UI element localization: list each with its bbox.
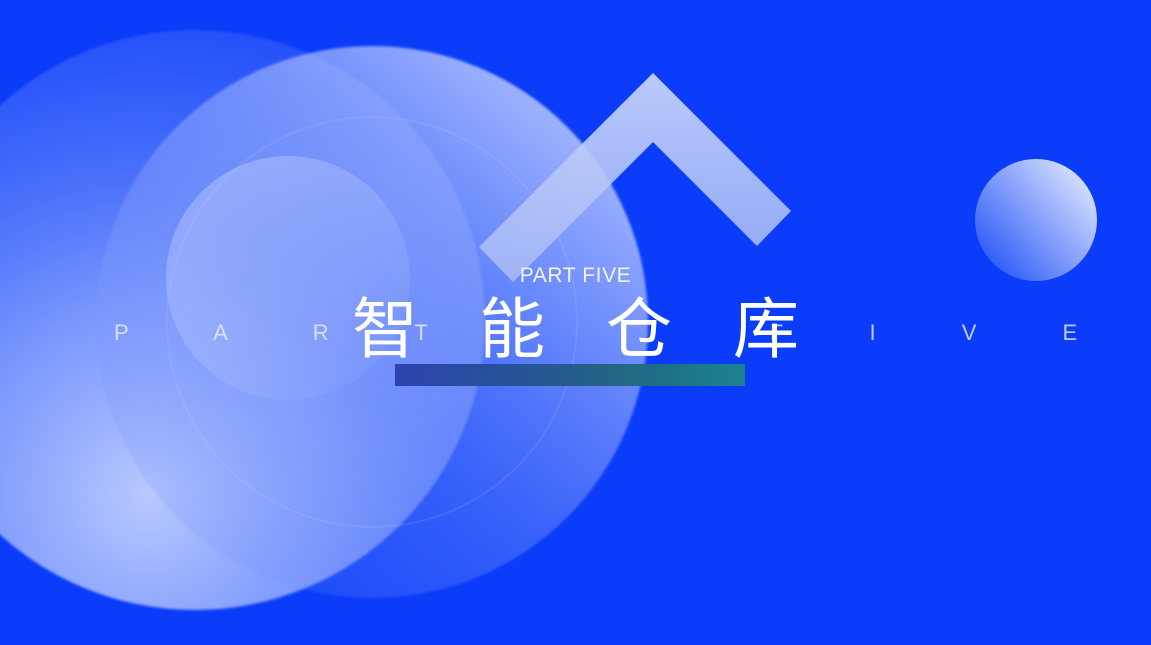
section-kicker: PART FIVE	[0, 265, 1151, 286]
slide-text-layer: P A R T F I V E PART FIVE 智 能 仓 库	[0, 0, 1151, 645]
page-title: 智 能 仓 库	[0, 297, 1151, 363]
slide-canvas: P A R T F I V E PART FIVE 智 能 仓 库	[0, 0, 1151, 645]
